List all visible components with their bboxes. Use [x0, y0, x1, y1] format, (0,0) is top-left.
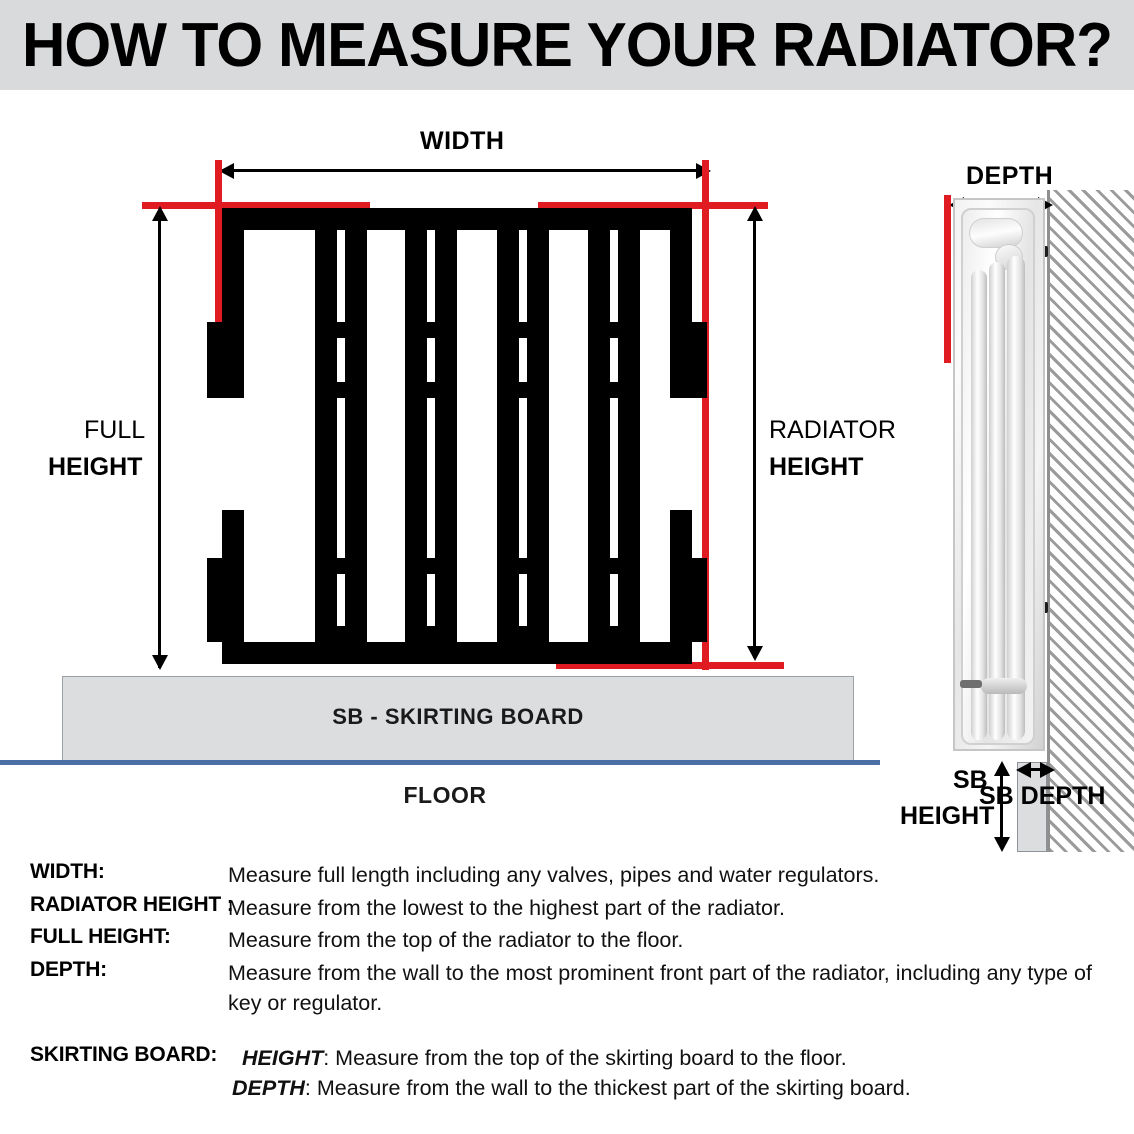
side-radiator-tube-1	[971, 270, 987, 740]
note-row-depth: DEPTH: Measure from the wall to the most…	[0, 958, 1134, 1019]
note-skirting-depth-key: DEPTH	[232, 1073, 305, 1104]
note-skirting-depth-row: DEPTH : Measure from the wall to the thi…	[232, 1073, 1092, 1104]
width-label: WIDTH	[420, 127, 504, 156]
depth-label: DEPTH	[966, 162, 1053, 191]
sb-depth-arrow-head-left	[1016, 762, 1031, 778]
note-desc-skirting-board: HEIGHT : Measure from the top of the ski…	[228, 1043, 1134, 1104]
radiator-left-endcap-bridge-bottom	[207, 382, 244, 398]
full-height-label-line1: FULL	[84, 416, 145, 445]
full-height-arrow-line	[158, 218, 161, 668]
note-skirting-height-row: HEIGHT : Measure from the top of the ski…	[242, 1043, 1092, 1074]
note-row-skirting-board: SKIRTING BOARD: HEIGHT : Measure from th…	[0, 1043, 1134, 1104]
page-title: HOW TO MEASURE YOUR RADIATOR?	[17, 0, 1117, 90]
note-skirting-depth-desc: : Measure from the wall to the thickest …	[305, 1073, 911, 1104]
red-guide-side-vertical	[944, 195, 951, 363]
radiator-height-label-line1: RADIATOR	[769, 416, 896, 445]
note-term-depth: DEPTH:	[0, 958, 228, 982]
side-radiator-photo	[953, 198, 1045, 751]
side-radiator-valve	[981, 678, 1027, 694]
note-desc-width: Measure full length including any valves…	[228, 860, 1134, 891]
side-radiator-valve-stem	[960, 680, 982, 688]
radiator-right-endcap-bridge-lowtop	[670, 558, 707, 574]
side-radiator-top-port	[969, 218, 1023, 248]
sb-depth-label: SB DEPTH	[979, 782, 1105, 811]
radiator-right-endcap-bridge-lowbot	[670, 626, 707, 642]
full-height-arrow-head-bottom	[152, 655, 168, 670]
radiator-height-arrow-head-top	[747, 206, 763, 221]
sb-height-arrow-head-top	[994, 761, 1010, 776]
note-desc-depth: Measure from the wall to the most promin…	[228, 958, 1134, 1019]
full-height-label-line2: HEIGHT	[48, 453, 142, 482]
radiator-left-endcap-bridge-lowtop	[207, 558, 244, 574]
measurement-notes: WIDTH: Measure full length including any…	[0, 856, 1134, 1134]
note-skirting-height-key: HEIGHT	[242, 1043, 323, 1074]
wall-hatching	[1047, 190, 1134, 852]
radiator-right-endcap-bridge-bottom	[670, 382, 707, 398]
sb-height-arrow-head-bottom	[994, 837, 1010, 852]
notes-spacer	[0, 1021, 1134, 1043]
note-desc-radiator-height: Measure from the lowest to the highest p…	[228, 893, 1134, 924]
full-height-arrow-head-top	[152, 206, 168, 221]
radiator-height-arrow-line	[753, 218, 756, 658]
radiator-right-endcap-bridge-top	[670, 322, 707, 338]
note-row-width: WIDTH: Measure full length including any…	[0, 860, 1134, 891]
note-term-width: WIDTH:	[0, 860, 228, 884]
red-guide-vertical-left	[215, 160, 222, 330]
note-term-radiator-height: RADIATOR HEIGHT :	[0, 893, 228, 917]
radiator-left-endcap-bridge-top	[207, 322, 244, 338]
side-radiator-tube-2	[989, 262, 1005, 740]
note-row-full-height: FULL HEIGHT: Measure from the top of the…	[0, 925, 1134, 956]
page-header: HOW TO MEASURE YOUR RADIATOR?	[0, 0, 1134, 90]
radiator-height-arrow-head-bottom	[747, 646, 763, 661]
note-skirting-height-desc: : Measure from the top of the skirting b…	[323, 1043, 846, 1074]
skirting-board-label: SB - SKIRTING BOARD	[62, 704, 854, 730]
radiator-left-endcap-top	[222, 230, 244, 398]
floor-line	[0, 760, 880, 765]
note-term-skirting-board: SKIRTING BOARD:	[0, 1043, 228, 1067]
side-radiator-tube-3	[1007, 256, 1025, 740]
radiator-left-endcap-bridge-lowbot	[207, 626, 244, 642]
floor-label: FLOOR	[300, 782, 590, 809]
radiator-left-endcap-bottom	[222, 510, 244, 642]
sb-depth-arrow-head-right	[1040, 762, 1055, 778]
measurement-diagram: WIDTH FULL HEIGHT RADIATOR HEIGHT	[0, 90, 1134, 830]
note-row-radiator-height: RADIATOR HEIGHT : Measure from the lowes…	[0, 893, 1134, 924]
width-arrow-line	[228, 169, 702, 172]
note-term-full-height: FULL HEIGHT:	[0, 925, 228, 949]
radiator-height-label-line2: HEIGHT	[769, 453, 863, 482]
note-desc-full-height: Measure from the top of the radiator to …	[228, 925, 1134, 956]
